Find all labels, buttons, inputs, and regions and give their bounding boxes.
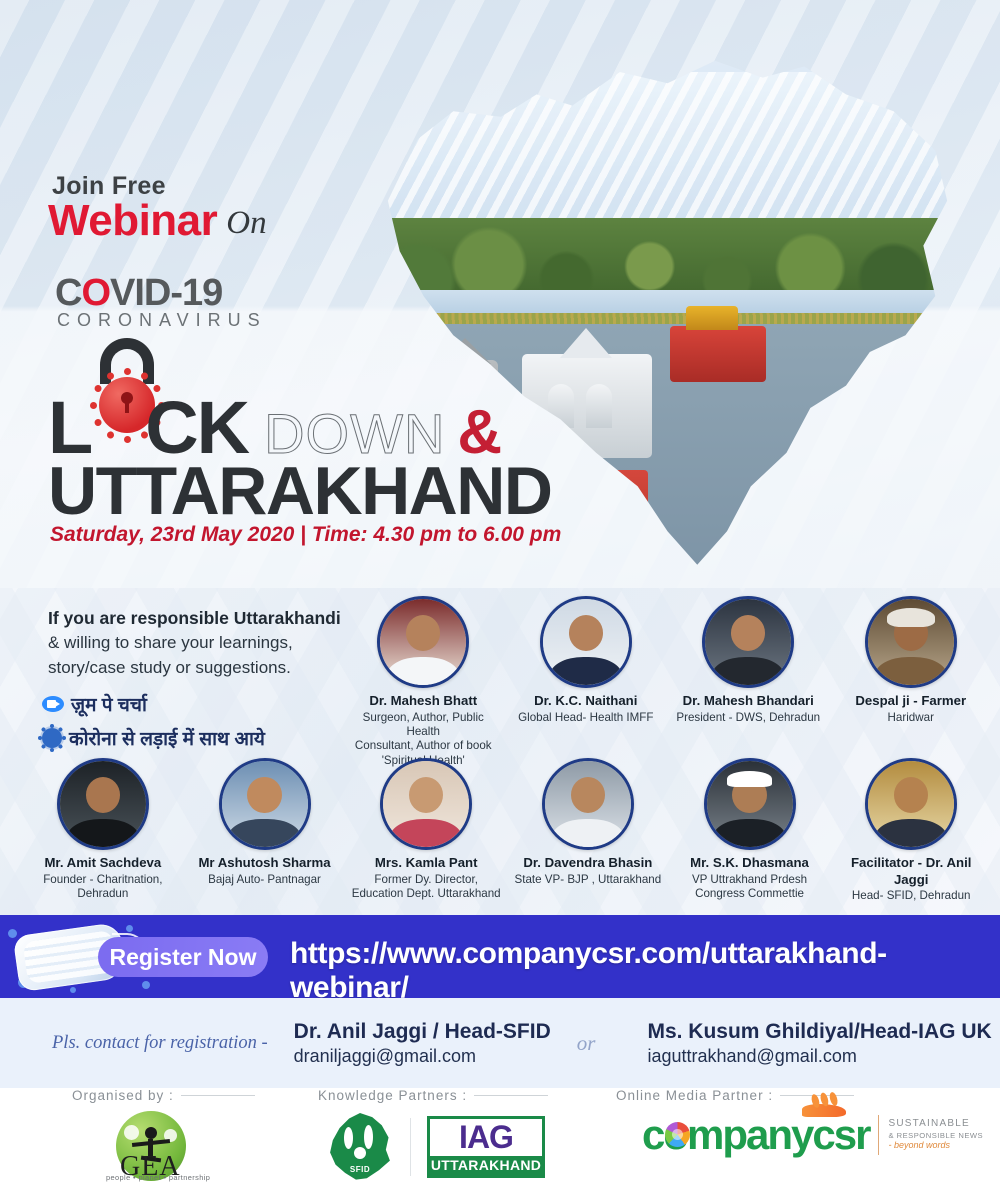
speaker-card: Mr. Amit Sachdeva Founder - Charitnation… bbox=[22, 758, 184, 903]
map-forest bbox=[370, 218, 965, 296]
contact-name: Ms. Kusum Ghildiyal/Head-IAG UK bbox=[647, 1020, 991, 1044]
webinar-word: Webinar bbox=[48, 196, 217, 246]
companycsr-tagline: SUSTAINABLE & RESPONSIBLE NEWS - beyond … bbox=[888, 1118, 983, 1151]
portrait-mahesh-bhatt bbox=[377, 596, 469, 688]
contact-person-2: Ms. Kusum Ghildiyal/Head-IAG UK iaguttra… bbox=[647, 1020, 991, 1067]
portrait-despal-ji bbox=[865, 596, 957, 688]
speaker-role: State VP- BJP , Uttarakhand bbox=[511, 873, 665, 887]
footer-partners: Organised by : GEA people • planet • par… bbox=[0, 1088, 1000, 1200]
contact-name: Dr. Anil Jaggi / Head-SFID bbox=[294, 1020, 551, 1044]
contact-or-separator: or bbox=[577, 1031, 596, 1056]
speaker-card: Mr. S.K. Dhasmana VP Uttrakhand Prdesh C… bbox=[669, 758, 831, 903]
webinar-poster: Join Free Webinar On COVID-19 CORONAVIRU… bbox=[0, 0, 1000, 1200]
event-datetime: Saturday, 23rd May 2020 | Time: 4.30 pm … bbox=[50, 523, 561, 547]
covid-c: C bbox=[55, 272, 81, 314]
gea-tagline: people • planet • partnership bbox=[106, 1173, 210, 1182]
speaker-role: Global Head- Health IMFF bbox=[509, 711, 664, 725]
coronavirus-subtitle: CORONAVIRUS bbox=[57, 310, 267, 331]
contact-email[interactable]: iaguttrakhand@gmail.com bbox=[647, 1046, 991, 1067]
speaker-name: Mr Ashutosh Sharma bbox=[188, 855, 342, 872]
contact-lead-label: Pls. contact for registration - bbox=[52, 1033, 268, 1054]
temple-roof bbox=[560, 328, 612, 358]
logo-divider bbox=[410, 1118, 411, 1176]
speaker-name: Mr. Amit Sachdeva bbox=[26, 855, 180, 872]
portrait-ashutosh-sharma bbox=[219, 758, 311, 850]
hindi-bullet-corona: कोरोना से लड़ाई में साथ आये bbox=[42, 725, 265, 751]
pink-temple bbox=[670, 326, 766, 382]
portrait-sk-dhasmana bbox=[704, 758, 796, 850]
speaker-role: Former Dy. Director, Education Dept. Utt… bbox=[349, 873, 503, 902]
organiser-logos: GEA people • planet • partnership bbox=[72, 1111, 255, 1181]
organised-by-group: Organised by : GEA people • planet • par… bbox=[72, 1088, 255, 1181]
covid-rest: VID-19 bbox=[110, 272, 222, 314]
portrait-davendra-bhasin bbox=[542, 758, 634, 850]
hero-section: Join Free Webinar On COVID-19 CORONAVIRU… bbox=[0, 0, 1000, 588]
hindi-bullet-zoom: ज़ूम पे चर्चा bbox=[42, 691, 265, 717]
speaker-card: Mr Ashutosh Sharma Bajaj Auto- Pantnagar bbox=[184, 758, 346, 903]
knowledge-partner-logos: SFID IAG UTTARAKHAND bbox=[318, 1111, 548, 1183]
portrait-amit-sachdeva bbox=[57, 758, 149, 850]
sfid-logo: SFID bbox=[324, 1111, 396, 1183]
registration-url[interactable]: https://www.companycsr.com/uttarakhand-w… bbox=[290, 937, 1000, 998]
coronavirus-icon bbox=[42, 728, 62, 748]
speaker-name: Dr. K.C. Naithani bbox=[509, 693, 664, 710]
bird-icon bbox=[802, 1094, 848, 1120]
speaker-role: Bajaj Auto- Pantnagar bbox=[188, 873, 342, 887]
contact-person-1: Dr. Anil Jaggi / Head-SFID draniljaggi@g… bbox=[294, 1020, 551, 1067]
portrait-anil-jaggi bbox=[865, 758, 957, 850]
speaker-row-2: Mr. Amit Sachdeva Founder - Charitnation… bbox=[22, 758, 992, 903]
speaker-card: Dr. Davendra Bhasin State VP- BJP , Utta… bbox=[507, 758, 669, 903]
hindi-bullets: ज़ूम पे चर्चा कोरोना से लड़ाई में साथ आय… bbox=[42, 691, 265, 759]
zoom-video-icon bbox=[42, 696, 64, 712]
iag-logo: IAG UTTARAKHAND bbox=[427, 1116, 545, 1178]
register-now-button[interactable]: Register Now bbox=[98, 937, 268, 977]
tagline-line-3: - beyond words bbox=[888, 1140, 983, 1151]
webinar-title: Webinar On bbox=[48, 196, 267, 246]
covid-logo: COVID-19 bbox=[55, 272, 222, 315]
speaker-name: Dr. Davendra Bhasin bbox=[511, 855, 665, 872]
state-headline: UTTARAKHAND bbox=[48, 452, 552, 530]
speaker-name: Facilitator - Dr. Anil Jaggi bbox=[834, 855, 988, 888]
speaker-name: Dr. Mahesh Bhatt bbox=[346, 693, 501, 710]
speaker-card: Dr. Mahesh Bhatt Surgeon, Author, Public… bbox=[342, 596, 505, 768]
speaker-card: Dr. K.C. Naithani Global Head- Health IM… bbox=[505, 596, 668, 768]
gea-logo: GEA people • planet • partnership bbox=[98, 1111, 206, 1181]
covid-o: O bbox=[81, 272, 110, 314]
speaker-role: President - DWS, Dehradun bbox=[671, 711, 826, 725]
on-word: On bbox=[226, 205, 266, 242]
temple-arch bbox=[586, 384, 612, 428]
tagline-line-2: & RESPONSIBLE NEWS bbox=[888, 1131, 983, 1140]
speaker-name: Dr. Mahesh Bhandari bbox=[671, 693, 826, 710]
speaker-card: Dr. Mahesh Bhandari President - DWS, Deh… bbox=[667, 596, 830, 768]
speaker-role: Haridwar bbox=[834, 711, 989, 725]
speaker-name: Despal ji - Farmer bbox=[834, 693, 989, 710]
speaker-role: VP Uttrakhand Prdesh Congress Commettie bbox=[673, 873, 827, 902]
media-partner-text: Online Media Partner : bbox=[616, 1088, 773, 1103]
speaker-row-1: Dr. Mahesh Bhatt Surgeon, Author, Public… bbox=[342, 596, 992, 768]
speakers-section: If you are responsible Uttarakhandi & wi… bbox=[0, 588, 1000, 915]
speaker-card: Facilitator - Dr. Anil Jaggi Head- SFID,… bbox=[830, 758, 992, 903]
contact-email[interactable]: draniljaggi@gmail.com bbox=[294, 1046, 551, 1067]
invite-line-1: If you are responsible Uttarakhandi bbox=[48, 606, 368, 631]
iag-region: UTTARAKHAND bbox=[430, 1156, 542, 1175]
portrait-kc-naithani bbox=[540, 596, 632, 688]
knowledge-partners-label: Knowledge Partners : bbox=[318, 1088, 548, 1103]
sfid-wordmark: SFID bbox=[324, 1165, 396, 1174]
hindi-bullet-label: कोरोना से लड़ाई में साथ आये bbox=[69, 725, 265, 751]
speaker-name: Mr. S.K. Dhasmana bbox=[673, 855, 827, 872]
temple-gold-roof bbox=[686, 306, 738, 330]
speaker-card: Despal ji - Farmer Haridwar bbox=[830, 596, 993, 768]
globe-icon bbox=[665, 1122, 690, 1147]
organised-by-label: Organised by : bbox=[72, 1088, 255, 1103]
knowledge-partners-text: Knowledge Partners : bbox=[318, 1088, 467, 1103]
iag-wordmark: IAG bbox=[430, 1119, 542, 1156]
portrait-mahesh-bhandari bbox=[702, 596, 794, 688]
speaker-role: Founder - Charitnation, Dehradun bbox=[26, 873, 180, 902]
speaker-card: Mrs. Kamla Pant Former Dy. Director, Edu… bbox=[345, 758, 507, 903]
contact-section: Pls. contact for registration - Dr. Anil… bbox=[0, 998, 1000, 1088]
hindi-bullet-label: ज़ूम पे चर्चा bbox=[71, 691, 147, 717]
knowledge-partners-group: Knowledge Partners : SFID IAG UTTARAKHAN… bbox=[318, 1088, 548, 1183]
register-bar: Register Now https://www.companycsr.com/… bbox=[0, 915, 1000, 998]
speaker-role: Head- SFID, Dehradun bbox=[834, 889, 988, 903]
invite-line-2: & willing to share your learnings, bbox=[48, 631, 368, 656]
media-partner-label: Online Media Partner : bbox=[616, 1088, 983, 1103]
tagline-line-1: SUSTAINABLE bbox=[888, 1118, 983, 1131]
organised-by-text: Organised by : bbox=[72, 1088, 174, 1103]
invite-text: If you are responsible Uttarakhandi & wi… bbox=[48, 606, 368, 681]
companycsr-logo: companycsr SUSTAINABLE & RESPONSIBLE NEW… bbox=[642, 1111, 983, 1159]
media-partner-logos: companycsr SUSTAINABLE & RESPONSIBLE NEW… bbox=[616, 1111, 983, 1159]
portrait-kamla-pant bbox=[380, 758, 472, 850]
invite-line-3: story/case study or suggestions. bbox=[48, 656, 368, 681]
media-partner-group: Online Media Partner : companycsr SUSTAI… bbox=[616, 1088, 983, 1159]
logo-divider bbox=[878, 1115, 879, 1155]
speaker-name: Mrs. Kamla Pant bbox=[349, 855, 503, 872]
